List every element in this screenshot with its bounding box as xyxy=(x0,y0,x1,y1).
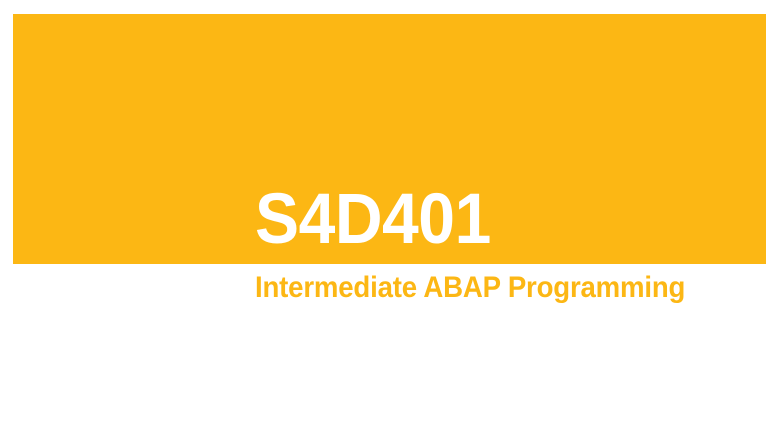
course-code: S4D401 xyxy=(255,184,491,255)
course-cover-slide: S4D401 Intermediate ABAP Programming xyxy=(0,0,784,441)
course-title: Intermediate ABAP Programming xyxy=(255,272,685,304)
